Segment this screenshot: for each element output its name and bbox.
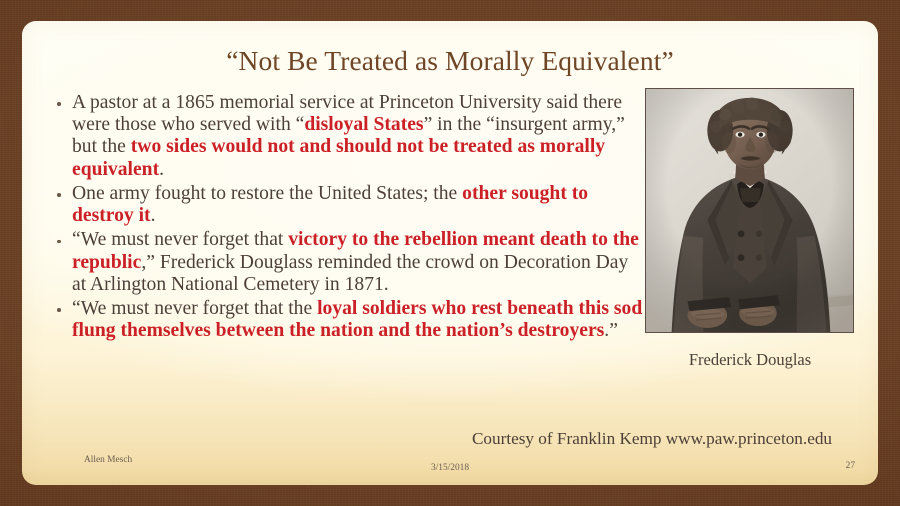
emphasized-text: disloyal States — [304, 114, 423, 135]
plain-text: “We must never forget that — [72, 229, 288, 250]
bullet-list: A pastor at a 1865 memorial service at P… — [48, 92, 643, 345]
page-title: “Not Be Treated as Morally Equivalent” — [22, 45, 878, 77]
bullet-1-text: A pastor at a 1865 memorial service at P… — [72, 92, 643, 181]
bullet-dot-icon — [57, 308, 61, 312]
emphasized-text: two sides would not and should not be tr… — [72, 136, 605, 179]
plain-text: ,” Frederick Douglass reminded the crowd… — [72, 252, 628, 295]
portrait-caption: Frederick Douglas — [622, 350, 878, 370]
plain-text: “We must never forget that the — [72, 298, 317, 319]
bullet-3-text: “We must never forget that victory to th… — [72, 229, 643, 296]
bullet-dot-icon — [57, 240, 61, 244]
plain-text: .” — [604, 320, 618, 341]
plain-text: . — [151, 205, 156, 226]
frederick-douglass-portrait — [645, 88, 854, 333]
portrait-illustration — [646, 89, 853, 332]
plain-text: . — [159, 159, 164, 180]
slide-content-panel: “Not Be Treated as Morally Equivalent” A… — [22, 21, 878, 485]
slide: “Not Be Treated as Morally Equivalent” A… — [0, 0, 900, 506]
plain-text: One army fought to restore the United St… — [72, 183, 462, 204]
list-item: One army fought to restore the United St… — [48, 183, 643, 227]
list-item: “We must never forget that the loyal sol… — [48, 298, 643, 342]
footer-page-number: 27 — [22, 461, 855, 471]
bullet-dot-icon — [57, 102, 61, 106]
image-credit: Courtesy of Franklin Kemp www.paw.prince… — [442, 429, 862, 449]
list-item: “We must never forget that victory to th… — [48, 229, 643, 296]
list-item: A pastor at a 1865 memorial service at P… — [48, 92, 643, 181]
bullet-4-text: “We must never forget that the loyal sol… — [72, 298, 643, 342]
bullet-dot-icon — [57, 193, 61, 197]
bullet-2-text: One army fought to restore the United St… — [72, 183, 643, 227]
